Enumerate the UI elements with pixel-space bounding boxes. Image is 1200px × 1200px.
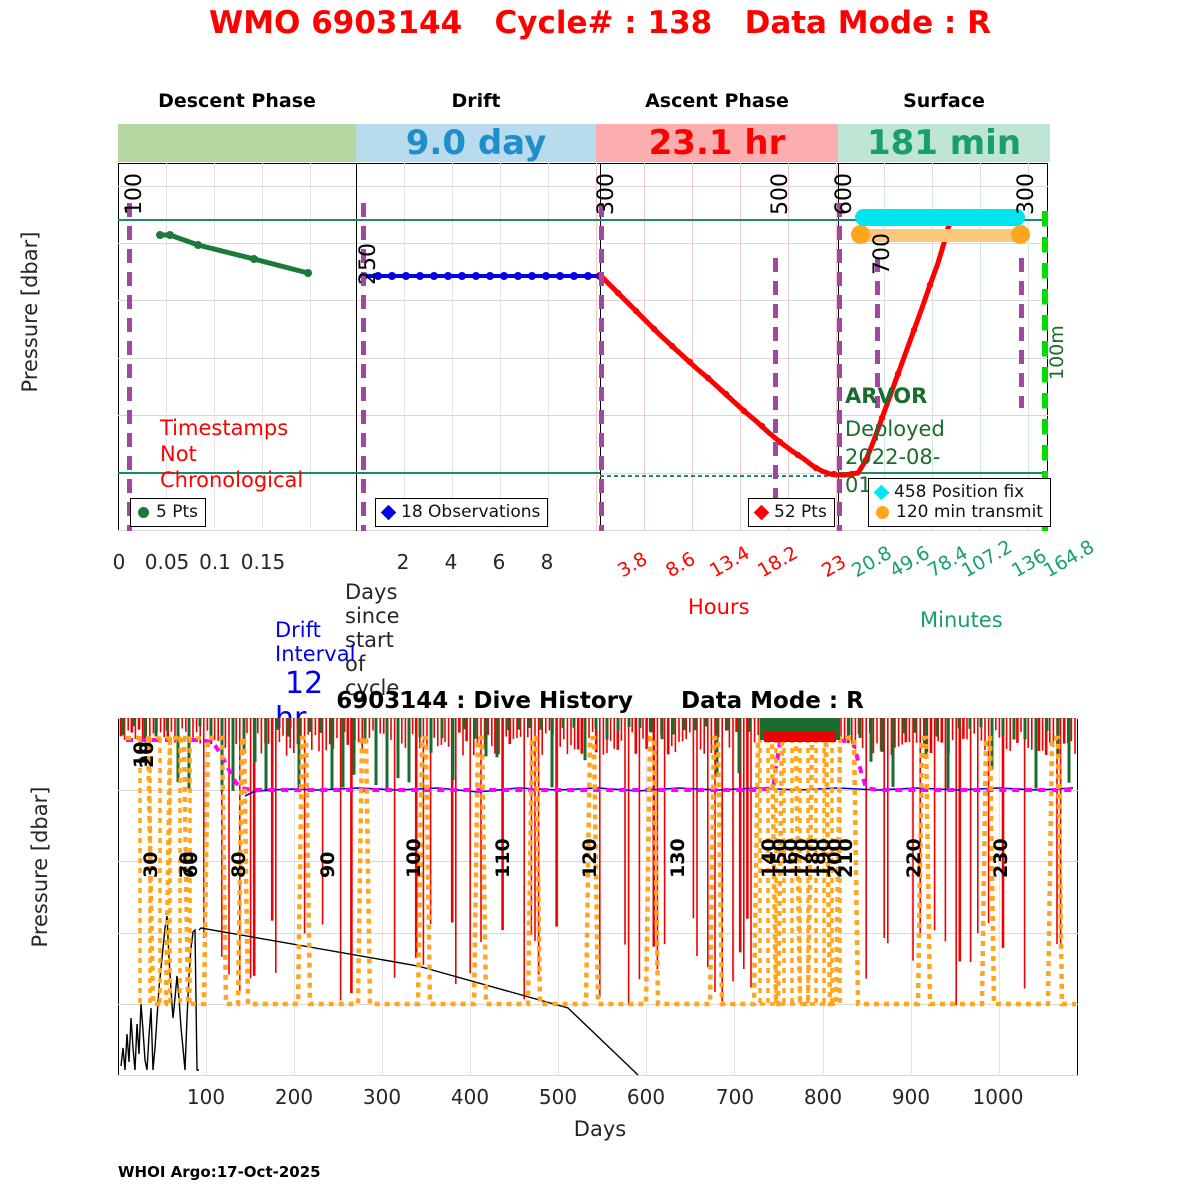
descent-marker-icon — [138, 507, 149, 518]
x-tick-days: 0.15 — [228, 550, 298, 574]
annotation-100m: 100m — [1046, 325, 1068, 380]
marker-dash-600 — [837, 203, 842, 531]
dive-history-series — [118, 718, 1078, 1076]
cycle-label: 100 — [403, 838, 425, 878]
x-axis-label-bottom: Days — [0, 1117, 1200, 1141]
page-title: WMO 6903144 Cycle# : 138 Data Mode : R — [0, 5, 1200, 41]
x-tick-hours: 18.2 — [754, 542, 802, 582]
x-tick-bottom: 400 — [435, 1085, 505, 1109]
cycle-label: 20 — [136, 742, 158, 768]
phase-label-ascent: Ascent Phase — [596, 90, 838, 112]
annotation-500: 500 — [768, 173, 793, 215]
cycle-label: 230 — [990, 838, 1012, 878]
transmit-icon — [876, 506, 889, 519]
annotation-700: 700 — [870, 233, 895, 275]
phase-value-ascent: 23.1 hr — [596, 124, 838, 162]
annotation-300: 300 — [594, 173, 619, 215]
annotation-250: 250 — [356, 243, 381, 285]
cycle-label: 220 — [903, 838, 925, 878]
legend-surface: 458 Position fix 120 min transmit — [868, 478, 1051, 527]
dive-history-canvas: 10 20 30 70 60 80 90 100 110 120 130 140… — [118, 718, 1078, 1076]
legend-ascent: 52 Pts — [748, 498, 835, 527]
drift-interval-label: Drift Interval — [275, 618, 355, 666]
phase-label-surface: Surface — [838, 90, 1050, 112]
phase-label-drift: Drift — [356, 90, 596, 112]
ascent-marker-icon — [754, 504, 770, 520]
annotation-600: 600 — [832, 173, 857, 215]
annotation-100: 100 — [122, 173, 147, 215]
cycle-label: 210 — [835, 838, 857, 878]
phase-value-surface: 181 min — [838, 124, 1050, 162]
position-fix-icon — [874, 484, 890, 500]
legend-descent: 5 Pts — [130, 498, 206, 527]
cycle-label: 90 — [317, 852, 339, 878]
x-tick-bottom: 100 — [171, 1085, 241, 1109]
phase-band-ascent: 23.1 hr — [596, 124, 838, 162]
x-tick-bottom: 200 — [259, 1085, 329, 1109]
x-tick-bottom: 500 — [523, 1085, 593, 1109]
phase-band-surface: 181 min — [838, 124, 1050, 162]
x-axis-label-hours: Hours — [688, 595, 750, 619]
transmit-start-dot — [851, 225, 870, 244]
phase-band-drift: 9.0 day — [356, 124, 596, 162]
phase-band-descent — [118, 124, 356, 162]
legend-posfix-label: 458 Position fix — [894, 482, 1024, 502]
cycle-label: 60 — [180, 852, 202, 878]
legend-drift: 18 Observations — [375, 498, 548, 527]
legend-transmit-label: 120 min transmit — [896, 502, 1043, 522]
x-tick-minutes: 107.2 — [958, 536, 1016, 582]
timestamp-warning-line1: Timestamps — [160, 415, 303, 441]
x-tick-hours: 23 — [818, 551, 850, 582]
footer-credit: WHOI Argo:17-Oct-2025 — [118, 1163, 321, 1181]
timestamp-warning: Timestamps Not Chronological — [160, 415, 303, 493]
x-tick-hours: 3.8 — [614, 548, 651, 582]
marker-dash-500 — [773, 258, 778, 508]
phase-label-descent: Descent Phase — [118, 90, 356, 112]
x-tick-bottom: 600 — [611, 1085, 681, 1109]
timestamp-warning-line2: Not Chronological — [160, 441, 303, 493]
cycle-label: 120 — [579, 838, 601, 878]
annotation-300b: 300 — [1014, 173, 1039, 215]
legend-ascent-label: 52 Pts — [774, 502, 827, 522]
x-tick-bottom: 900 — [876, 1085, 946, 1109]
drift-marker-icon — [381, 504, 397, 520]
cycle-label: 110 — [492, 838, 514, 878]
marker-dash-100 — [127, 203, 132, 531]
legend-drift-label: 18 Observations — [401, 502, 540, 522]
dive-history-title: 6903144 : Dive History Data Mode : R — [0, 688, 1200, 714]
cycle-label: 130 — [667, 838, 689, 878]
marker-dash-300 — [599, 203, 604, 531]
transmit-end-dot — [1011, 225, 1030, 244]
legend-descent-label: 5 Pts — [156, 502, 198, 522]
phase-value-drift: 9.0 day — [356, 124, 596, 162]
x-tick-bottom: 800 — [788, 1085, 858, 1109]
float-type: ARVOR — [845, 382, 927, 410]
x-axis-label-minutes: Minutes — [920, 608, 1003, 632]
x-tick-bottom: 1000 — [963, 1085, 1033, 1109]
y-axis-label-top: Pressure [dbar] — [18, 142, 42, 482]
cycle-label: 80 — [228, 852, 250, 878]
cycle-label: 30 — [140, 852, 162, 878]
y-axis-label-bottom: Pressure [dbar] — [28, 697, 52, 1037]
x-tick-bottom: 300 — [347, 1085, 417, 1109]
marker-dash-300b — [1019, 258, 1024, 408]
x-tick-bottom: 700 — [700, 1085, 770, 1109]
x-tick-hours: 8.6 — [662, 548, 699, 582]
x-tick-hours: 13.4 — [706, 542, 754, 582]
x-tick-days: 8 — [512, 550, 582, 574]
position-fix-bar — [855, 209, 1025, 226]
x-tick-minutes: 164.8 — [1040, 536, 1098, 582]
